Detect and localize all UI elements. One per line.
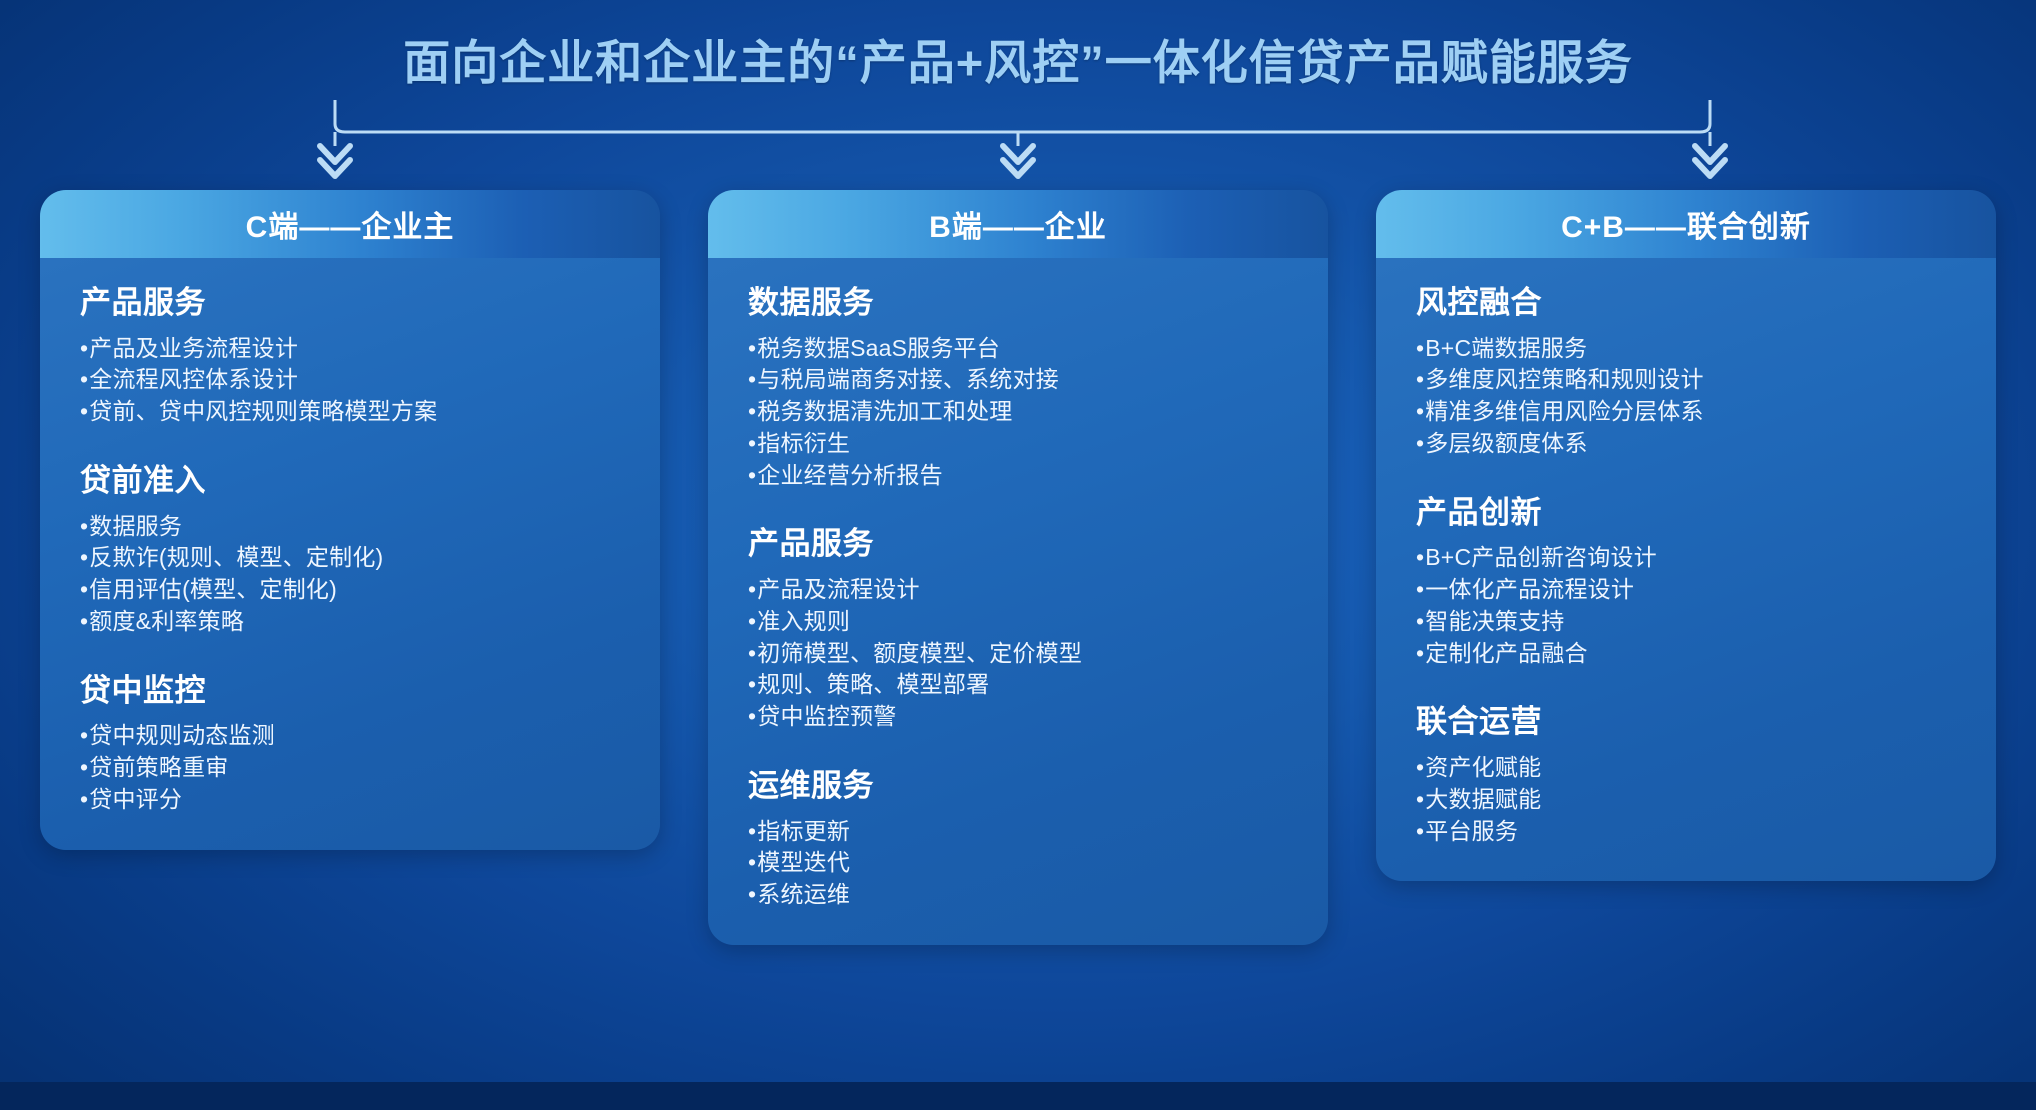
list-item-label: 多层级额度体系 — [1425, 428, 1587, 460]
section-title: 贷中监控 — [80, 672, 630, 711]
spacer — [80, 454, 630, 462]
list-item-label: 税务数据清洗加工和处理 — [757, 396, 1012, 428]
bullet-icon: • — [80, 788, 88, 811]
list-item-label: B+C产品创新咨询设计 — [1425, 542, 1657, 574]
list-item: •贷中评分 — [80, 784, 630, 816]
bullet-icon: • — [748, 337, 756, 360]
section-title: 产品服务 — [80, 284, 630, 323]
page-title: 面向企业和企业主的“产品+风控”一体化信贷产品赋能服务 — [0, 24, 2036, 93]
connector-diagram — [0, 96, 2036, 186]
section-item-list: •B+C产品创新咨询设计 •一体化产品流程设计 •智能决策支持 •定制化产品融合 — [1416, 542, 1966, 669]
list-item-label: 一体化产品流程设计 — [1425, 574, 1634, 606]
list-item-label: 指标衍生 — [757, 428, 850, 460]
section-item-list: •数据服务 •反欺诈(规则、模型、定制化) •信用评估(模型、定制化) •额度&… — [80, 511, 630, 638]
list-item: •平台服务 — [1416, 816, 1966, 848]
column-card-cb-joint[interactable]: C+B——联合创新 风控融合 •B+C端数据服务 •多维度风控策略和规则设计 •… — [1376, 190, 1996, 881]
column-header-label: B端——企业 — [929, 202, 1107, 246]
list-item-label: 模型迭代 — [757, 847, 850, 879]
bullet-icon: • — [80, 724, 88, 747]
bullet-icon: • — [80, 368, 88, 391]
section-item-list: •产品及业务流程设计 •全流程风控体系设计 •贷前、贷中风控规则策略模型方案 — [80, 333, 630, 428]
list-item: •大数据赋能 — [1416, 784, 1966, 816]
bullet-icon: • — [1416, 337, 1424, 360]
section-title: 风控融合 — [1416, 284, 1966, 323]
bullet-icon: • — [748, 400, 756, 423]
column-header-label: C+B——联合创新 — [1561, 202, 1811, 246]
section-risk-fusion: 风控融合 •B+C端数据服务 •多维度风控策略和规则设计 •精准多维信用风险分层… — [1416, 284, 1966, 460]
bullet-icon: • — [1416, 642, 1424, 665]
list-item: •智能决策支持 — [1416, 606, 1966, 638]
list-item-label: 贷中评分 — [89, 784, 182, 816]
column-card-c-end[interactable]: C端——企业主 产品服务 •产品及业务流程设计 •全流程风控体系设计 •贷前、贷… — [40, 190, 660, 850]
section-title: 产品创新 — [1416, 494, 1966, 533]
list-item-label: 信用评估(模型、定制化) — [89, 574, 337, 606]
column-header-b-end: B端——企业 — [708, 190, 1328, 258]
bullet-icon: • — [748, 851, 756, 874]
list-item-label: 企业经营分析报告 — [757, 460, 943, 492]
bullet-icon: • — [1416, 400, 1424, 423]
section-in-loan-monitoring: 贷中监控 •贷中规则动态监测 •贷前策略重审 •贷中评分 — [80, 672, 630, 816]
list-item: •多层级额度体系 — [1416, 428, 1966, 460]
list-item: •税务数据清洗加工和处理 — [748, 396, 1298, 428]
list-item-label: 精准多维信用风险分层体系 — [1425, 396, 1703, 428]
bullet-icon: • — [748, 368, 756, 391]
section-item-list: •B+C端数据服务 •多维度风控策略和规则设计 •精准多维信用风险分层体系 •多… — [1416, 333, 1966, 460]
section-item-list: •产品及流程设计 •准入规则 •初筛模型、额度模型、定价模型 •规则、策略、模型… — [748, 574, 1298, 733]
list-item: •产品及业务流程设计 — [80, 333, 630, 365]
section-product-service: 产品服务 •产品及流程设计 •准入规则 •初筛模型、额度模型、定价模型 •规则、… — [748, 525, 1298, 732]
list-item-label: B+C端数据服务 — [1425, 333, 1587, 365]
bullet-icon: • — [80, 546, 88, 569]
section-item-list: •指标更新 •模型迭代 •系统运维 — [748, 816, 1298, 911]
columns-container: C端——企业主 产品服务 •产品及业务流程设计 •全流程风控体系设计 •贷前、贷… — [40, 190, 1996, 1070]
bullet-icon: • — [1416, 756, 1424, 779]
list-item-label: 产品及流程设计 — [757, 574, 919, 606]
list-item: •多维度风控策略和规则设计 — [1416, 364, 1966, 396]
bullet-icon: • — [80, 756, 88, 779]
list-item: •定制化产品融合 — [1416, 638, 1966, 670]
spacer — [748, 759, 1298, 767]
bullet-icon: • — [1416, 578, 1424, 601]
column-card-b-end[interactable]: B端——企业 数据服务 •税务数据SaaS服务平台 •与税局端商务对接、系统对接… — [708, 190, 1328, 945]
bullet-icon: • — [748, 705, 756, 728]
section-product-service: 产品服务 •产品及业务流程设计 •全流程风控体系设计 •贷前、贷中风控规则策略模… — [80, 284, 630, 428]
list-item: •资产化赋能 — [1416, 752, 1966, 784]
list-item-label: 规则、策略、模型部署 — [757, 669, 989, 701]
list-item: •指标更新 — [748, 816, 1298, 848]
list-item: •产品及流程设计 — [748, 574, 1298, 606]
column-body-c-end: 产品服务 •产品及业务流程设计 •全流程风控体系设计 •贷前、贷中风控规则策略模… — [40, 258, 660, 850]
list-item-label: 数据服务 — [89, 511, 182, 543]
section-data-service: 数据服务 •税务数据SaaS服务平台 •与税局端商务对接、系统对接 •税务数据清… — [748, 284, 1298, 491]
bullet-icon: • — [748, 578, 756, 601]
column-header-cb-joint: C+B——联合创新 — [1376, 190, 1996, 258]
list-item: •贷前策略重审 — [80, 752, 630, 784]
list-item: •全流程风控体系设计 — [80, 364, 630, 396]
list-item: •贷前、贷中风控规则策略模型方案 — [80, 396, 630, 428]
list-item: •B+C端数据服务 — [1416, 333, 1966, 365]
list-item-label: 平台服务 — [1425, 816, 1518, 848]
bullet-icon: • — [1416, 788, 1424, 811]
list-item: •反欺诈(规则、模型、定制化) — [80, 542, 630, 574]
bullet-icon: • — [1416, 546, 1424, 569]
list-item-label: 准入规则 — [757, 606, 850, 638]
bullet-icon: • — [748, 642, 756, 665]
list-item-label: 定制化产品融合 — [1425, 638, 1587, 670]
list-item: •规则、策略、模型部署 — [748, 669, 1298, 701]
bullet-icon: • — [748, 883, 756, 906]
section-product-innovation: 产品创新 •B+C产品创新咨询设计 •一体化产品流程设计 •智能决策支持 •定制… — [1416, 494, 1966, 670]
list-item-label: 初筛模型、额度模型、定价模型 — [757, 638, 1082, 670]
list-item: •一体化产品流程设计 — [1416, 574, 1966, 606]
list-item: •指标衍生 — [748, 428, 1298, 460]
list-item-label: 系统运维 — [757, 879, 850, 911]
list-item: •数据服务 — [80, 511, 630, 543]
bullet-icon: • — [80, 400, 88, 423]
list-item: •贷中监控预警 — [748, 701, 1298, 733]
list-item-label: 贷中监控预警 — [757, 701, 896, 733]
column-header-label: C端——企业主 — [246, 202, 455, 246]
bullet-icon: • — [80, 578, 88, 601]
spacer — [1416, 695, 1966, 703]
column-body-b-end: 数据服务 •税务数据SaaS服务平台 •与税局端商务对接、系统对接 •税务数据清… — [708, 258, 1328, 945]
section-pre-loan-access: 贷前准入 •数据服务 •反欺诈(规则、模型、定制化) •信用评估(模型、定制化)… — [80, 462, 630, 638]
list-item-label: 大数据赋能 — [1425, 784, 1541, 816]
bullet-icon: • — [1416, 610, 1424, 633]
bullet-icon: • — [748, 820, 756, 843]
list-item-label: 智能决策支持 — [1425, 606, 1564, 638]
section-title: 联合运营 — [1416, 703, 1966, 742]
column-body-cb-joint: 风控融合 •B+C端数据服务 •多维度风控策略和规则设计 •精准多维信用风险分层… — [1376, 258, 1996, 881]
list-item: •精准多维信用风险分层体系 — [1416, 396, 1966, 428]
spacer — [80, 664, 630, 672]
list-item-label: 贷前、贷中风控规则策略模型方案 — [89, 396, 437, 428]
section-title: 产品服务 — [748, 525, 1298, 564]
list-item: •额度&利率策略 — [80, 606, 630, 638]
slide-canvas: 面向企业和企业主的“产品+风控”一体化信贷产品赋能服务 C端——企业主 产品服 — [0, 0, 2036, 1110]
spacer — [748, 517, 1298, 525]
list-item: •B+C产品创新咨询设计 — [1416, 542, 1966, 574]
list-item: •贷中规则动态监测 — [80, 720, 630, 752]
list-item-label: 资产化赋能 — [1425, 752, 1541, 784]
column-header-c-end: C端——企业主 — [40, 190, 660, 258]
bullet-icon: • — [748, 673, 756, 696]
section-operations-service: 运维服务 •指标更新 •模型迭代 •系统运维 — [748, 767, 1298, 911]
list-item-label: 多维度风控策略和规则设计 — [1425, 364, 1703, 396]
bullet-icon: • — [1416, 368, 1424, 391]
section-title: 贷前准入 — [80, 462, 630, 501]
list-item-label: 指标更新 — [757, 816, 850, 848]
list-item-label: 与税局端商务对接、系统对接 — [757, 364, 1059, 396]
list-item-label: 贷前策略重审 — [89, 752, 228, 784]
bullet-icon: • — [80, 515, 88, 538]
section-item-list: •税务数据SaaS服务平台 •与税局端商务对接、系统对接 •税务数据清洗加工和处… — [748, 333, 1298, 492]
list-item-label: 贷中规则动态监测 — [89, 720, 275, 752]
list-item-label: 反欺诈(规则、模型、定制化) — [89, 542, 383, 574]
list-item-label: 额度&利率策略 — [89, 606, 244, 638]
section-title: 数据服务 — [748, 284, 1298, 323]
list-item-label: 产品及业务流程设计 — [89, 333, 298, 365]
spacer — [1416, 486, 1966, 494]
list-item: •准入规则 — [748, 606, 1298, 638]
list-item: •系统运维 — [748, 879, 1298, 911]
list-item: •信用评估(模型、定制化) — [80, 574, 630, 606]
bullet-icon: • — [1416, 820, 1424, 843]
list-item: •初筛模型、额度模型、定价模型 — [748, 638, 1298, 670]
bullet-icon: • — [1416, 432, 1424, 455]
section-title: 运维服务 — [748, 767, 1298, 806]
section-joint-operations: 联合运营 •资产化赋能 •大数据赋能 •平台服务 — [1416, 703, 1966, 847]
list-item: •企业经营分析报告 — [748, 460, 1298, 492]
section-item-list: •贷中规则动态监测 •贷前策略重审 •贷中评分 — [80, 720, 630, 815]
list-item-label: 税务数据SaaS服务平台 — [757, 333, 1000, 365]
bullet-icon: • — [80, 610, 88, 633]
list-item-label: 全流程风控体系设计 — [89, 364, 298, 396]
list-item: •模型迭代 — [748, 847, 1298, 879]
list-item: •税务数据SaaS服务平台 — [748, 333, 1298, 365]
bullet-icon: • — [748, 464, 756, 487]
list-item: •与税局端商务对接、系统对接 — [748, 364, 1298, 396]
bullet-icon: • — [748, 432, 756, 455]
bullet-icon: • — [748, 610, 756, 633]
section-item-list: •资产化赋能 •大数据赋能 •平台服务 — [1416, 752, 1966, 847]
bullet-icon: • — [80, 337, 88, 360]
